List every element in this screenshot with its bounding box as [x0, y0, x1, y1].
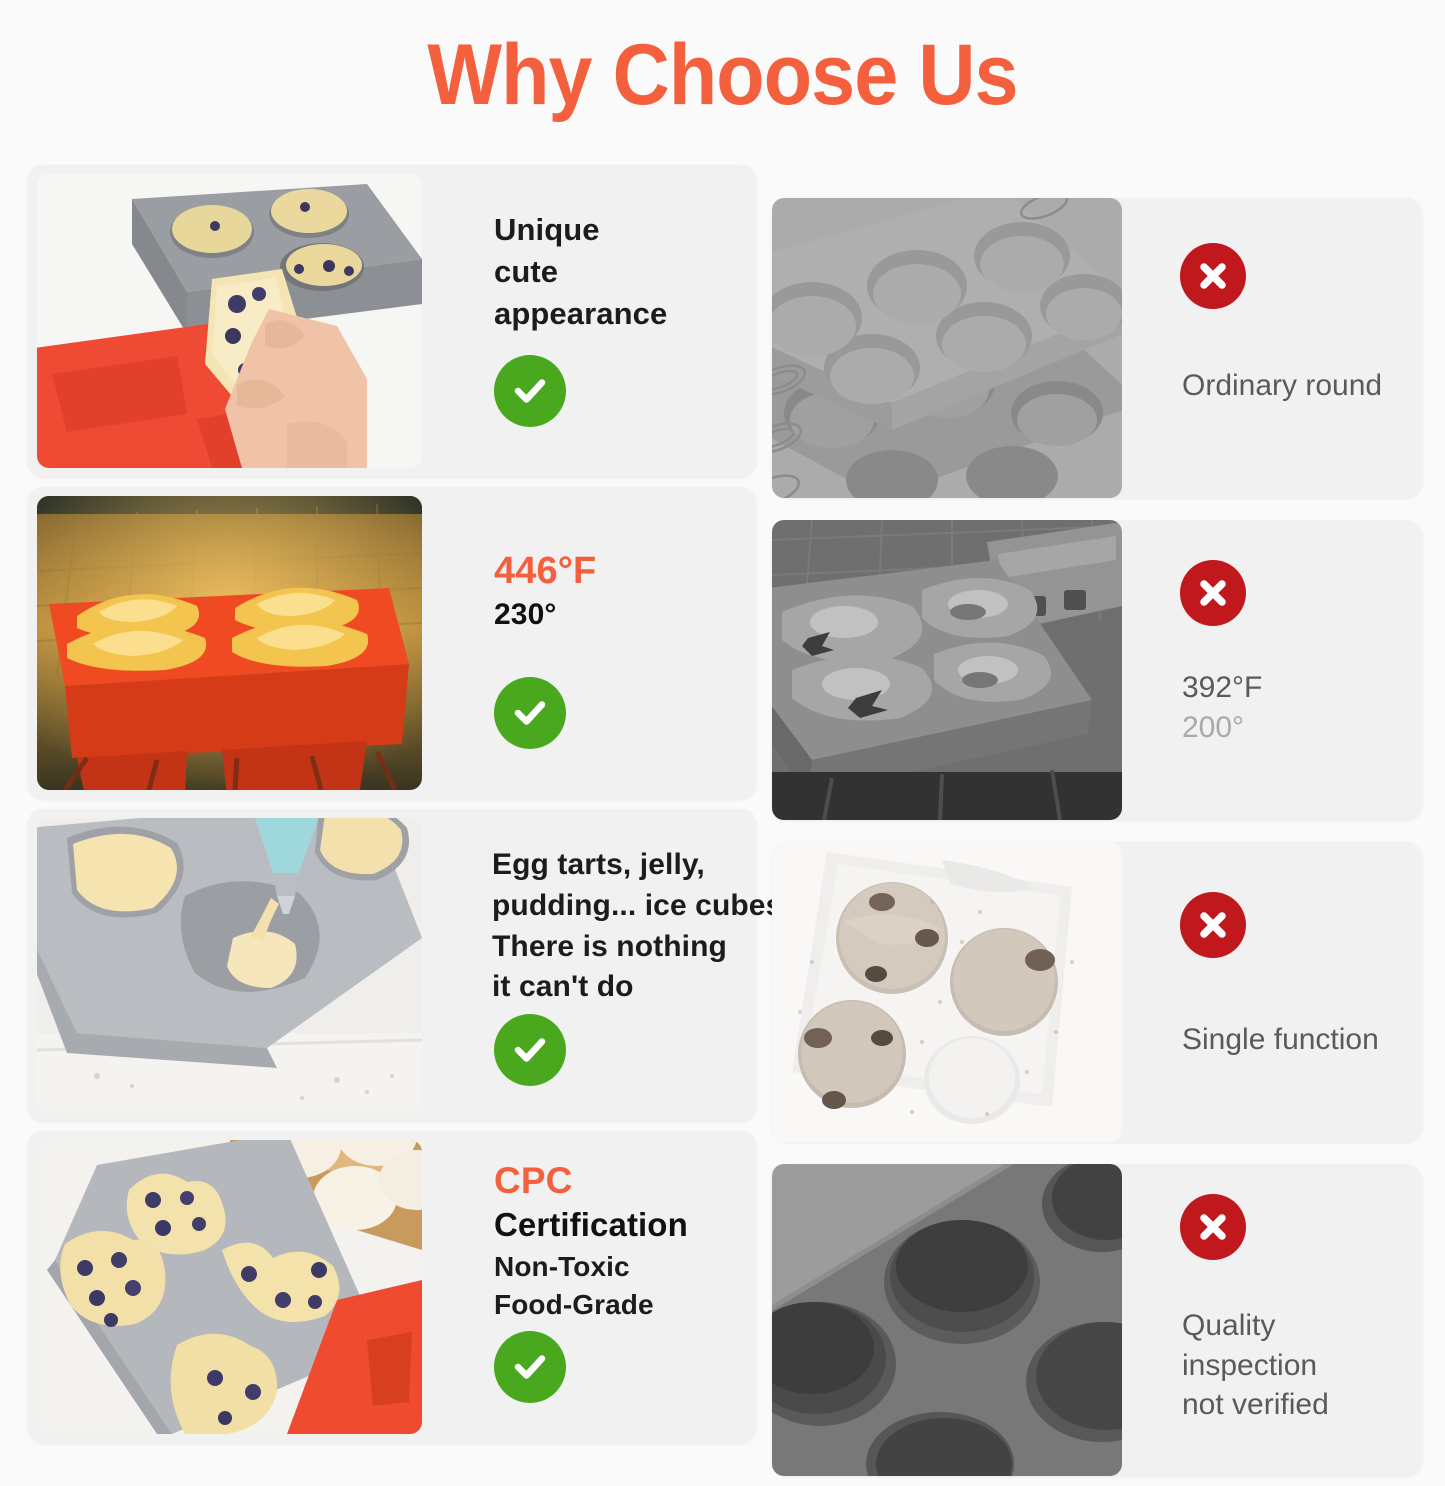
pros-text-panel: Egg tarts, jelly, pudding... ice cubes T… — [436, 809, 756, 1121]
cons-row: 392°F 200° — [772, 520, 1422, 820]
pros-row: Unique cute appearance — [28, 165, 756, 477]
pros-line: pudding... ice cubes — [492, 886, 752, 927]
cons-line: Quality inspection — [1182, 1306, 1416, 1385]
cons-row: Single function — [772, 842, 1422, 1142]
pros-text-panel: Unique cute appearance — [436, 165, 756, 477]
cons-row: Quality inspection not verified — [772, 1164, 1422, 1476]
pros-row: 446°F 230° — [28, 487, 756, 799]
page-title: Why Choose Us — [58, 26, 1387, 125]
pros-text: Egg tarts, jelly, pudding... ice cubes T… — [492, 845, 752, 1008]
pros-column: Unique cute appearance — [28, 165, 756, 1453]
check-icon — [494, 1331, 566, 1403]
pros-line: Unique — [494, 209, 752, 251]
pros-row: CPC Certification Non-Toxic Food-Grade — [28, 1131, 756, 1443]
pros-row: Egg tarts, jelly, pudding... ice cubes T… — [28, 809, 756, 1121]
cons-text: Single function — [1182, 1020, 1416, 1060]
pros-text-panel: CPC Certification Non-Toxic Food-Grade — [436, 1131, 756, 1443]
pros-line: Egg tarts, jelly, — [492, 845, 752, 886]
cons-line: 392°F — [1182, 668, 1416, 708]
photo-red-silicone-mold-baking-in-oven — [37, 496, 422, 790]
pros-line: Food-Grade — [494, 1286, 752, 1324]
cons-text: Ordinary round — [1182, 366, 1416, 406]
cross-icon — [1180, 560, 1246, 626]
cons-line: not verified — [1182, 1385, 1416, 1425]
cross-icon — [1180, 892, 1246, 958]
pros-text: Unique cute appearance — [494, 209, 752, 335]
photo-dark-gray-round-muffin-tray-closeup — [772, 1164, 1122, 1476]
pros-line: There is nothing — [492, 927, 752, 968]
photo-stacked-gray-round-muffin-trays — [772, 198, 1122, 498]
cross-icon — [1180, 1194, 1246, 1260]
cons-text: 392°F 200° — [1182, 668, 1416, 747]
pros-line: Non-Toxic — [494, 1248, 752, 1286]
cons-text-panel: Quality inspection not verified — [1142, 1164, 1422, 1476]
cons-text-panel: Ordinary round — [1142, 198, 1422, 498]
cons-row: Ordinary round — [772, 198, 1422, 498]
check-icon — [494, 355, 566, 427]
pros-line: cute — [494, 251, 752, 293]
cross-icon — [1180, 243, 1246, 309]
cons-column: Ordinary round — [772, 198, 1422, 1486]
cons-text-panel: Single function — [1142, 842, 1422, 1142]
check-icon — [494, 677, 566, 749]
pros-line: appearance — [494, 293, 752, 335]
check-icon — [494, 1014, 566, 1086]
pros-text: CPC Certification Non-Toxic Food-Grade — [494, 1159, 752, 1324]
cons-line: Ordinary round — [1182, 366, 1416, 406]
pros-highlight: 446°F — [494, 549, 752, 595]
infographic-root: Why Choose Us — [0, 0, 1445, 1445]
photo-hand-holding-dinosaur-muffin-with-gray-and-red-molds — [37, 174, 422, 468]
pros-subtext: 230° — [494, 595, 752, 636]
pros-text: 446°F 230° — [494, 549, 752, 635]
cons-line: Single function — [1182, 1020, 1416, 1060]
pros-text-panel: 446°F 230° — [436, 487, 756, 799]
pros-subtext: Certification — [494, 1203, 752, 1248]
pros-highlight: CPC — [494, 1159, 752, 1203]
photo-gray-mold-inside-oven — [772, 520, 1122, 820]
photo-blueberry-dinosaur-cakes-in-gray-mold-with-eggs — [37, 1140, 422, 1434]
photo-round-raisin-muffins-in-light-mold — [772, 842, 1122, 1142]
cons-text-panel: 392°F 200° — [1142, 520, 1422, 820]
cons-line-dim: 200° — [1182, 708, 1416, 748]
photo-piping-batter-into-gray-dinosaur-mold — [37, 818, 422, 1112]
pros-line: it can't do — [492, 967, 752, 1008]
cons-text: Quality inspection not verified — [1182, 1306, 1416, 1425]
